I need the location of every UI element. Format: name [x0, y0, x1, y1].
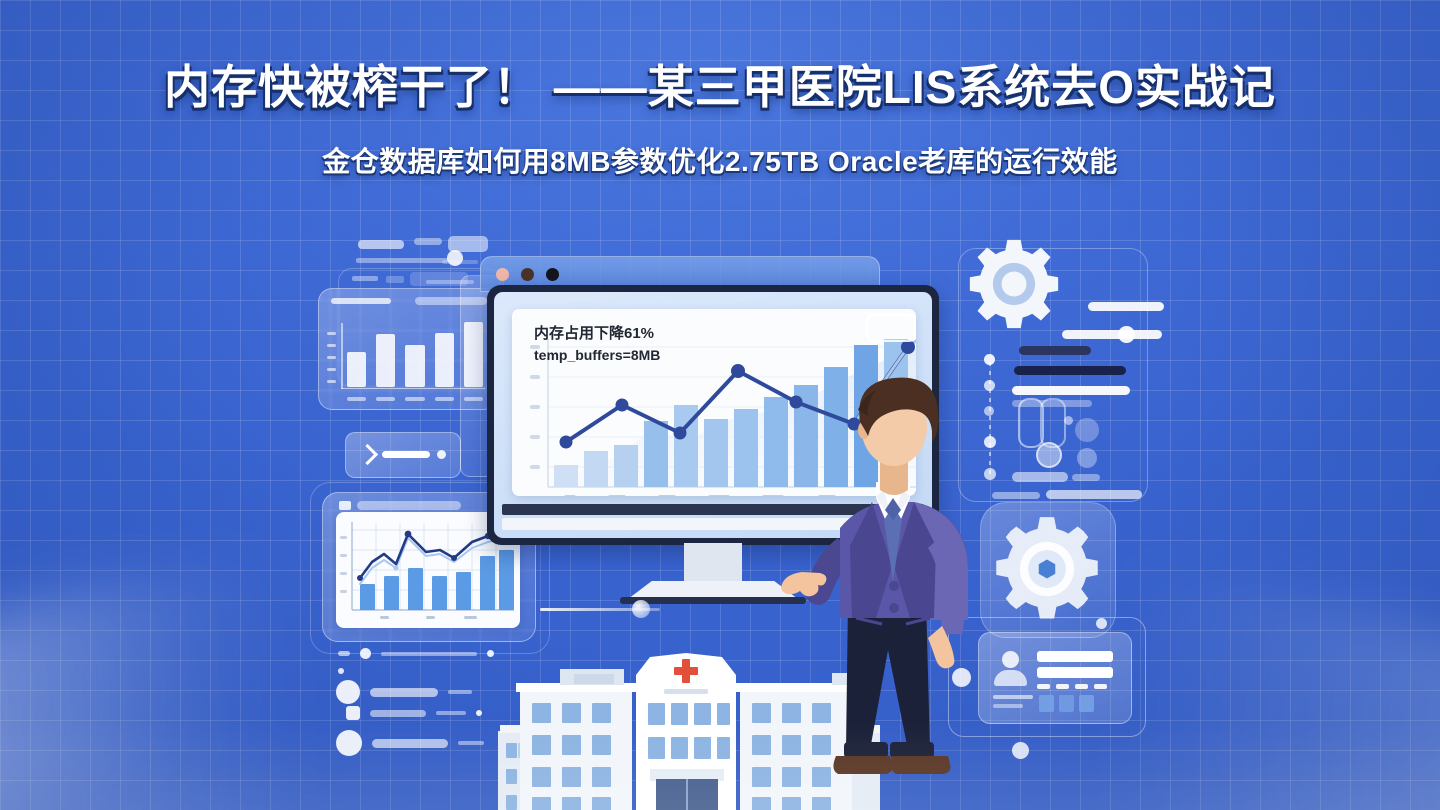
tab-square: [339, 501, 351, 510]
headline-container: 内存快被榨干了！ ——某三甲医院LIS系统去O实战记: [0, 62, 1440, 113]
presenter-svg: [780, 350, 990, 810]
panel-header-bar: [331, 298, 391, 304]
slider-row[interactable]: [336, 730, 484, 756]
id-card-line: [993, 704, 1023, 708]
presenter-person: [780, 350, 990, 810]
gear-icon: [966, 236, 1062, 332]
chart-annotation: 内存占用下降61% temp_buffers=8MB: [534, 323, 660, 365]
chart-y-ticks: [327, 332, 336, 383]
decor-line: [356, 258, 448, 263]
decor-bar: [358, 240, 404, 249]
page-title: 内存快被榨干了！ ——某三甲医院LIS系统去O实战记: [164, 62, 1276, 113]
id-card-swatch-row: [1039, 695, 1094, 712]
page-subtitle: 金仓数据库如何用8MB参数优化2.75TB Oracle老库的运行效能: [322, 140, 1117, 180]
slider-row[interactable]: [336, 680, 472, 704]
tab-pill: [357, 501, 461, 510]
id-card-icon: [978, 632, 1132, 724]
gear-icon: [988, 510, 1106, 628]
poster-canvas: 内存快被榨干了！ ——某三甲医院LIS系统去O实战记 金仓数据库如何用8MB参数…: [0, 0, 1440, 810]
card-tabs: [339, 501, 461, 510]
terminal-prompt-chip[interactable]: [345, 432, 461, 478]
gear-top-svg: [966, 236, 1062, 332]
decor-dot: [1012, 742, 1029, 759]
slider-row[interactable]: [338, 648, 494, 659]
id-card-line: [993, 695, 1033, 699]
decor-bar: [414, 238, 442, 245]
chevron-right-icon: [357, 444, 378, 465]
gear-bottom-svg: [988, 510, 1106, 628]
id-card-line: [1037, 651, 1113, 662]
subheadline-container: 金仓数据库如何用8MB参数优化2.75TB Oracle老库的运行效能: [0, 140, 1440, 180]
id-card-dash-row: [1037, 684, 1107, 689]
decor-line: [442, 260, 478, 264]
chart-annotation-line2: temp_buffers=8MB: [534, 345, 660, 365]
monitor-neck: [684, 543, 742, 587]
slider-row[interactable]: [346, 706, 482, 720]
decor-dot-row: [338, 668, 391, 674]
chart-y-axis: [341, 323, 343, 389]
screen-corner-chip: [866, 314, 916, 342]
chart-annotation-line1: 内存占用下降61%: [534, 323, 660, 345]
window-dot-close[interactable]: [496, 268, 509, 281]
medical-cross-icon: [674, 659, 698, 683]
hospital-sign: [664, 689, 708, 694]
id-card-line: [1037, 667, 1113, 678]
avatar-icon: [993, 651, 1027, 685]
decor-dot: [437, 450, 446, 459]
window-dot-minimize[interactable]: [521, 268, 534, 281]
terminal-command-bar: [382, 451, 430, 458]
decor-dot: [1096, 618, 1107, 629]
window-dot-maximize[interactable]: [546, 268, 559, 281]
